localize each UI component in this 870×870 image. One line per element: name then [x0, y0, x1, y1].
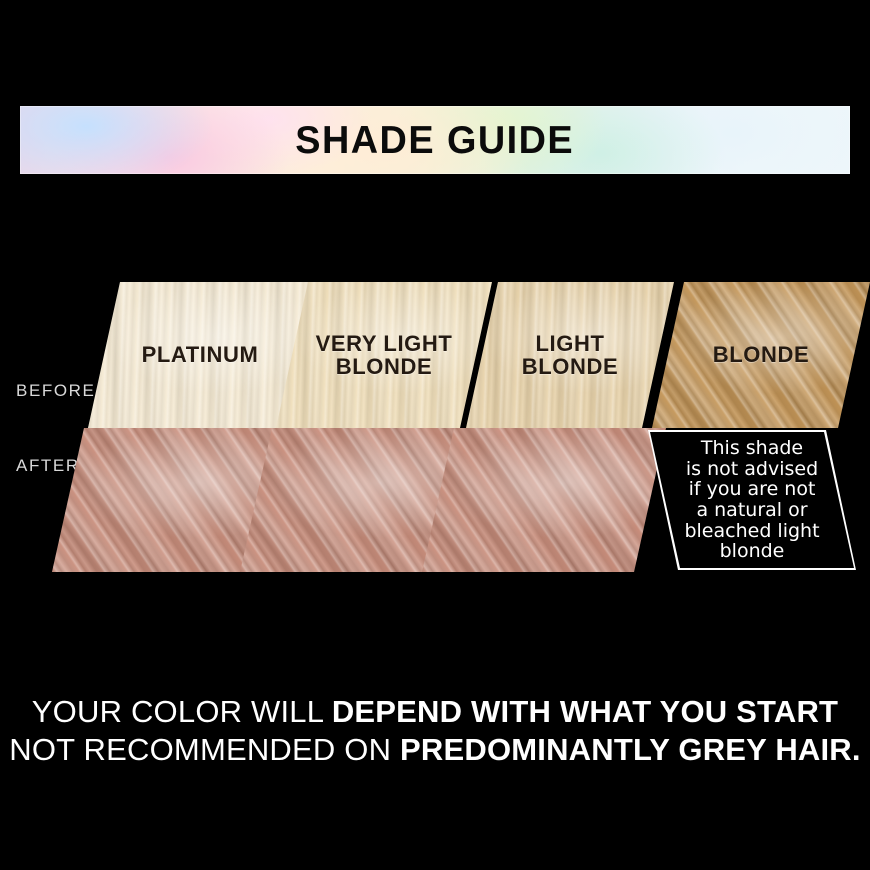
page-title: SHADE GUIDE [296, 121, 575, 160]
before-swatch-row: PLATINUM VERY LIGHTBLONDE LIGHTBLONDE BL… [0, 282, 870, 428]
caption-line-2-bold: PREDOMINANTLY GREY HAIR. [400, 732, 861, 767]
caption-line-1: YOUR COLOR WILL DEPEND WITH WHAT YOU STA… [0, 693, 870, 731]
caption-line-1-bold: DEPEND WITH WHAT YOU START [332, 694, 838, 729]
after-swatch-3[interactable] [422, 428, 666, 572]
caption-line-1-light: YOUR COLOR WILL [32, 694, 332, 729]
hair-sheen [422, 428, 666, 572]
swatch-light-blonde[interactable]: LIGHTBLONDE [466, 282, 674, 428]
caption-line-2-light: NOT RECOMMENDED ON [9, 732, 400, 767]
not-advised-note: This shadeis not advisedif you are nota … [648, 430, 856, 570]
swatch-label-platinum: PLATINUM [142, 343, 259, 366]
caption-line-2: NOT RECOMMENDED ON PREDOMINANTLY GREY HA… [0, 731, 870, 769]
swatch-label-blonde: BLONDE [713, 343, 810, 366]
shade-guide-canvas: SHADE GUIDE BEFORE AFTER PLATINUM VERY L… [0, 0, 870, 870]
swatch-label-very-light-blonde: VERY LIGHTBLONDE [316, 332, 453, 379]
note-text: This shadeis not advisedif you are nota … [678, 438, 825, 561]
shade-guide-banner: SHADE GUIDE [20, 106, 850, 174]
swatch-blonde[interactable]: BLONDE [652, 282, 870, 428]
after-swatch-row: This shadeis not advisedif you are nota … [0, 428, 870, 572]
bottom-caption: YOUR COLOR WILL DEPEND WITH WHAT YOU STA… [0, 693, 870, 769]
swatch-platinum[interactable]: PLATINUM [88, 282, 312, 428]
swatch-label-light-blonde: LIGHTBLONDE [522, 332, 619, 379]
swatch-very-light-blonde[interactable]: VERY LIGHTBLONDE [276, 282, 492, 428]
